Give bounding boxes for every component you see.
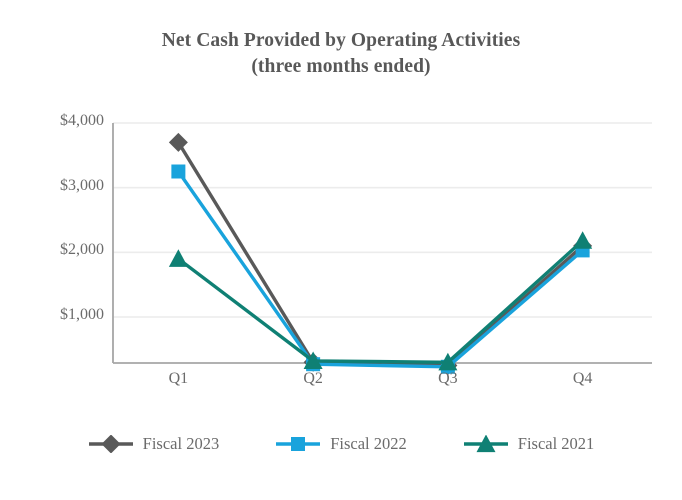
x-axis-tick-label: Q3 [408,370,488,388]
data-point-marker [573,231,592,249]
legend-marker-triangle-icon [463,435,509,453]
legend-item[interactable]: Fiscal 2022 [275,434,407,454]
y-axis-tick-label: $2,000 [18,241,104,259]
data-point-marker [169,133,188,152]
data-point-marker [101,435,120,453]
series-layer [169,133,592,375]
gridlines [113,123,652,317]
legend-item[interactable]: Fiscal 2021 [463,434,595,454]
legend-marker-square-icon [275,435,321,453]
data-point-marker [171,165,185,179]
x-axis-tick-label: Q2 [273,370,353,388]
series-line [178,142,582,365]
series-fiscal-2023 [169,133,592,375]
axis-lines [113,123,652,363]
legend-label: Fiscal 2022 [330,434,407,454]
legend-label: Fiscal 2021 [518,434,595,454]
y-axis-tick-label: $3,000 [18,177,104,195]
y-axis-tick-label: $4,000 [18,112,104,130]
legend-marker-diamond-icon [88,435,134,453]
y-axis-tick-label: $1,000 [18,306,104,324]
series-fiscal-2022 [171,165,589,374]
x-axis-tick-label: Q1 [138,370,218,388]
chart-container: Net Cash Provided by Operating Activitie… [0,0,682,500]
chart-legend: Fiscal 2023Fiscal 2022Fiscal 2021 [0,434,682,454]
x-axis-tick-label: Q4 [543,370,623,388]
series-line [178,172,582,367]
legend-item[interactable]: Fiscal 2023 [88,434,220,454]
data-point-marker [291,437,305,451]
legend-label: Fiscal 2023 [143,434,220,454]
